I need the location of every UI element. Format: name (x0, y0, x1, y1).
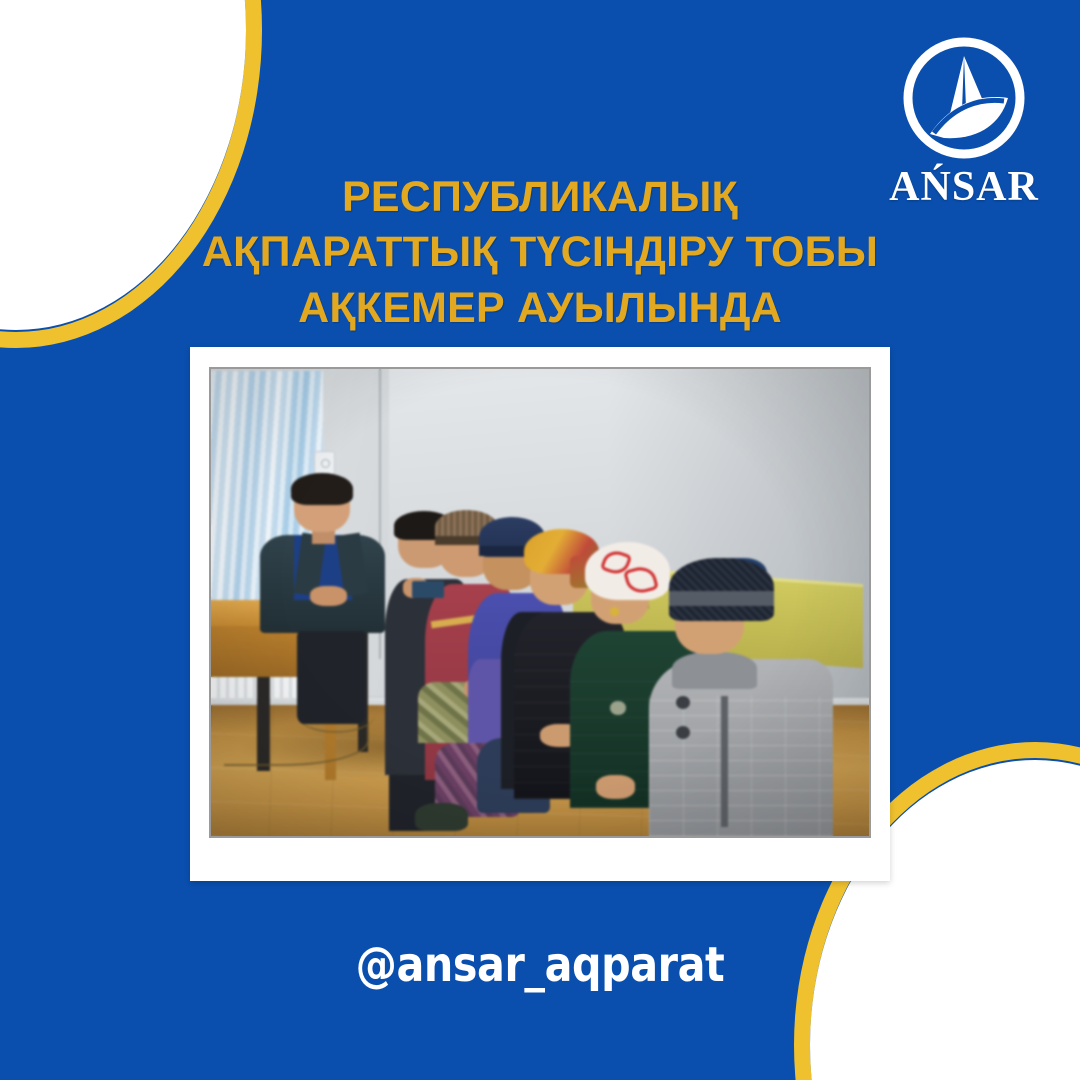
title-line-1: РЕСПУБЛИКАЛЫҚ (120, 170, 960, 225)
audience-person-5-brooch (610, 701, 626, 715)
brand-logo: AŃSAR (876, 34, 1052, 216)
audience-person-6-collar (672, 652, 758, 689)
title-line-3: АҚКЕМЕР АУЫЛЫНДА (120, 281, 960, 336)
wall-socket (314, 451, 335, 475)
audience-person-6-snap-1 (676, 696, 690, 709)
audience-person-5-earring (610, 607, 619, 616)
audience-person-6-hat-band (669, 591, 774, 606)
poster-canvas: AŃSAR РЕСПУБЛИКАЛЫҚ АҚПАРАТТЫҚ ТҮСІНДІРУ… (0, 0, 1080, 1080)
social-handle: @ansar_aqparat (76, 937, 1005, 993)
audience-person-6-quilting (649, 696, 833, 836)
photo-scene: әкімдігі (211, 369, 869, 836)
title-line-2: АҚПАРАТТЫҚ ТҮСІНДІРУ ТОБЫ (120, 225, 960, 280)
photo: әкімдігі (209, 367, 871, 838)
ansar-mountain-circle-logo (900, 34, 1028, 162)
audience-person-6-zipper (721, 696, 728, 827)
audience-shoe (415, 803, 468, 831)
audience-person-1-phone (412, 581, 444, 598)
speaker-legs (297, 631, 366, 724)
brand-wordmark: AŃSAR (889, 166, 1039, 208)
speaker-hands (310, 586, 347, 606)
photo-frame: әкімдігі (190, 347, 890, 881)
audience-person-5-hands (596, 775, 635, 798)
audience-person-6-knit-hat (669, 558, 774, 621)
speaker-hair (291, 473, 353, 505)
